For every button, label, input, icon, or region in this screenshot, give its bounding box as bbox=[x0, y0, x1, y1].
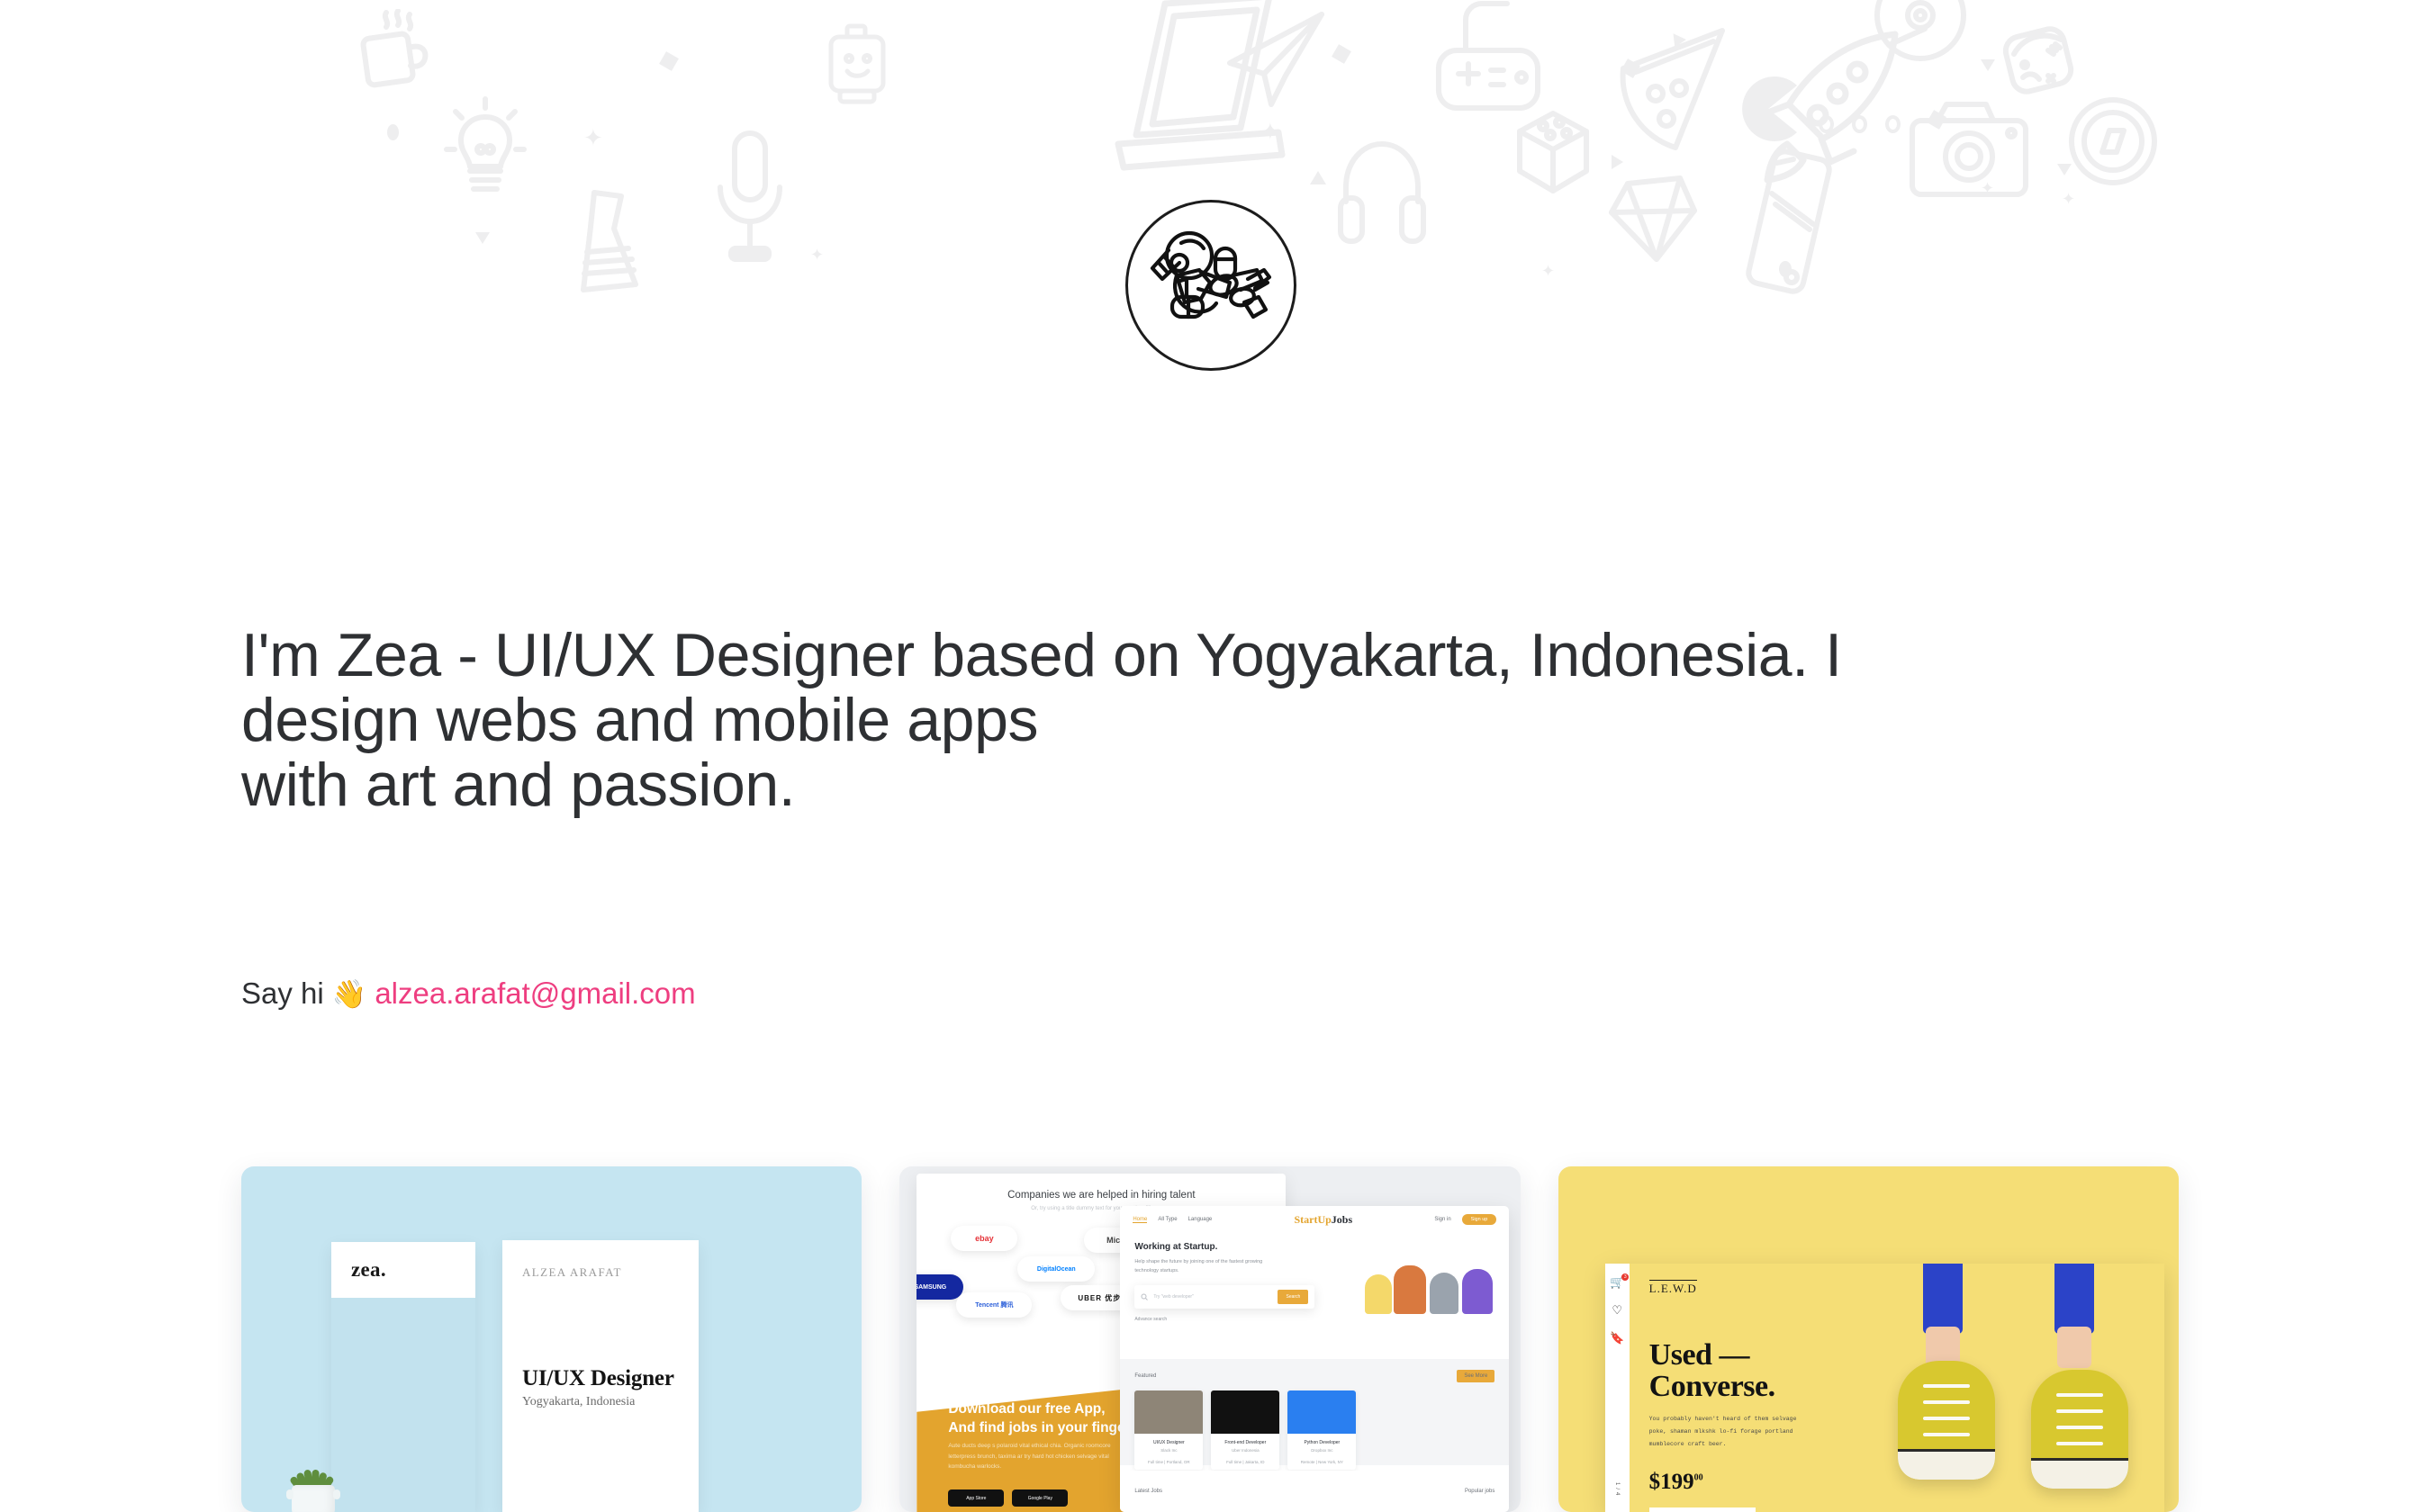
featured-section: Featured See More UI/UX Designer Slack I… bbox=[1120, 1359, 1509, 1465]
job-card[interactable]: Front-end Developer Uber Indonesia Full … bbox=[1211, 1390, 1279, 1470]
hero-section: I'm Zea - UI/UX Designer based on Yogyak… bbox=[241, 623, 2042, 817]
lego-head-icon bbox=[824, 22, 892, 109]
app-store-badge[interactable]: App Store bbox=[948, 1489, 1004, 1507]
lightbulb-icon bbox=[441, 94, 529, 207]
job-company: Slack Inc bbox=[1134, 1448, 1203, 1453]
job-card[interactable]: UI/UX Designer Slack Inc Full time | Por… bbox=[1134, 1390, 1203, 1470]
compass-icon bbox=[2066, 94, 2160, 188]
shop-brand-logo: L.E.W.D bbox=[1649, 1280, 1697, 1296]
star-icon: ✦ bbox=[2062, 191, 2075, 207]
company-pill: ebay bbox=[951, 1226, 1017, 1251]
star-icon: ✦ bbox=[583, 126, 603, 149]
job-thumbnail bbox=[1287, 1390, 1356, 1434]
contact-prefix: Say hi bbox=[241, 976, 324, 1011]
dot-icon bbox=[1885, 115, 1901, 133]
astronaut-logo[interactable] bbox=[1125, 200, 1296, 371]
company-pill: DigitalOcean bbox=[1017, 1256, 1095, 1282]
nav-item-language[interactable]: Language bbox=[1188, 1217, 1213, 1222]
job-thumbnail bbox=[1134, 1390, 1203, 1434]
jobs-brand-logo: StartUpJobs bbox=[1294, 1213, 1352, 1227]
featured-label: Featured bbox=[1134, 1373, 1156, 1379]
burger-icon bbox=[2003, 25, 2077, 97]
job-title: Front-end Developer bbox=[1211, 1440, 1279, 1445]
square-icon bbox=[659, 51, 679, 71]
jobs-hero-body: Help shape the future by joining one of … bbox=[1134, 1257, 1278, 1276]
job-thumbnail bbox=[1211, 1390, 1279, 1434]
brand-logo-word: zea. bbox=[351, 1258, 386, 1282]
jobs-home-screen: Home All Type Language StartUpJobs Sign … bbox=[1120, 1206, 1509, 1512]
jobs-navbar: Home All Type Language StartUpJobs Sign … bbox=[1120, 1206, 1509, 1233]
product-photo bbox=[1885, 1264, 2164, 1512]
job-meta: Remote | New York, NY bbox=[1287, 1460, 1356, 1464]
featured-job-list: UI/UX Designer Slack Inc Full time | Por… bbox=[1134, 1390, 1494, 1470]
job-search-button[interactable]: Search bbox=[1278, 1290, 1308, 1304]
succulent-plant bbox=[284, 1465, 343, 1512]
paper-plane-icon bbox=[1224, 9, 1328, 110]
rocket-icon bbox=[1751, 25, 1909, 192]
pacman-icon bbox=[1736, 76, 1801, 141]
business-card-name: ALZEA ARAFAT bbox=[522, 1265, 679, 1280]
latest-jobs-label: Latest Jobs bbox=[1134, 1489, 1162, 1494]
project-card-branding[interactable]: zea. ALZEA ARAFAT UI/UX Designer Yogyaka… bbox=[241, 1166, 862, 1512]
job-search-bar[interactable]: Try "web developer" Search bbox=[1134, 1285, 1314, 1309]
add-to-cart-button[interactable]: ADD TO CART bbox=[1649, 1507, 1756, 1512]
plant-pot bbox=[292, 1485, 335, 1512]
team-illustration bbox=[1361, 1256, 1496, 1328]
sign-in-link[interactable]: Sign in bbox=[1434, 1217, 1450, 1222]
headline-line-3: with art and passion. bbox=[241, 752, 2042, 817]
nav-item-all-type[interactable]: All Type bbox=[1158, 1217, 1177, 1222]
job-title: Python Developer bbox=[1287, 1440, 1356, 1445]
square-icon bbox=[1621, 58, 1640, 78]
cart-icon[interactable]: 🛒3 bbox=[1610, 1276, 1624, 1288]
store-badges: App Store Google Play bbox=[948, 1489, 1068, 1507]
square-icon bbox=[1927, 110, 1946, 130]
nav-item-home[interactable]: Home bbox=[1133, 1217, 1147, 1223]
square-icon bbox=[1332, 44, 1351, 64]
email-link[interactable]: alzea.arafat@gmail.com bbox=[375, 976, 695, 1011]
job-meta: Full time | Portland, OR bbox=[1134, 1460, 1203, 1464]
flask-icon bbox=[567, 187, 654, 297]
triangle-icon bbox=[1981, 59, 1995, 71]
business-card-location: Yogyakarta, Indonesia bbox=[522, 1395, 679, 1409]
job-company: Uber Indonesia bbox=[1211, 1448, 1279, 1453]
dot-icon bbox=[1819, 115, 1834, 133]
project-card-ecommerce[interactable]: 🛒3 ♡ 🔖 1/4 L.E.W.D Used — Converse. You … bbox=[1558, 1166, 2179, 1512]
shop-product-content: L.E.W.D Used — Converse. You probably ha… bbox=[1630, 1264, 2164, 1512]
triangle-icon bbox=[1612, 155, 1623, 169]
shop-side-rail: 🛒3 ♡ 🔖 1/4 bbox=[1605, 1264, 1630, 1512]
laptop-icon bbox=[1109, 0, 1289, 186]
star-icon: ✦ bbox=[1541, 263, 1555, 279]
astronaut-icon bbox=[1147, 223, 1275, 349]
featured-header: Featured See More bbox=[1134, 1370, 1494, 1382]
headline-line-1: I'm Zea - UI/UX Designer based on Yogyak… bbox=[241, 623, 2042, 688]
waving-hand-icon: 👋 bbox=[332, 980, 367, 1008]
jobs-hero-title: Working at Startup. bbox=[1134, 1242, 1494, 1252]
page-title: I'm Zea - UI/UX Designer based on Yogyak… bbox=[241, 623, 2042, 817]
triangle-icon bbox=[1668, 33, 1686, 50]
shop-browser-window: 🛒3 ♡ 🔖 1/4 L.E.W.D Used — Converse. You … bbox=[1605, 1264, 2164, 1512]
triangle-icon bbox=[475, 232, 490, 244]
brand-poster: zea. bbox=[331, 1242, 475, 1512]
brand-poster-body bbox=[331, 1298, 475, 1512]
headphones-icon bbox=[1337, 135, 1427, 252]
brand-poster-top: zea. bbox=[331, 1242, 475, 1298]
job-company: Dropbox Inc bbox=[1287, 1448, 1356, 1453]
dot-icon bbox=[387, 124, 399, 140]
search-icon bbox=[1141, 1293, 1148, 1300]
star-icon: ✦ bbox=[810, 247, 824, 263]
job-title: UI/UX Designer bbox=[1134, 1440, 1203, 1445]
product-description: You probably haven't heard of them selva… bbox=[1649, 1413, 1810, 1450]
google-play-badge[interactable]: Google Play bbox=[1012, 1489, 1068, 1507]
star-icon: ✦ bbox=[1260, 120, 1280, 143]
company-pill: Tencent 腾讯 bbox=[956, 1292, 1032, 1318]
dot-icon bbox=[1852, 115, 1867, 133]
project-cards: zea. ALZEA ARAFAT UI/UX Designer Yogyaka… bbox=[241, 1166, 2179, 1512]
cd-icon bbox=[1871, 0, 1970, 65]
company-pill: SAMSUNG bbox=[917, 1274, 963, 1300]
companies-title: Companies we are helped in hiring talent bbox=[917, 1190, 1286, 1201]
job-meta: Full time | Jakarta, ID bbox=[1211, 1460, 1279, 1464]
camera-icon bbox=[1907, 97, 2033, 202]
triangle-icon bbox=[2057, 164, 2072, 175]
business-card-role: UI/UX Designer bbox=[522, 1366, 679, 1391]
bookmark-icon[interactable]: 🔖 bbox=[1610, 1332, 1624, 1344]
latest-jobs-bar: Latest Jobs Popular jobs bbox=[1120, 1471, 1509, 1512]
microphone-icon bbox=[711, 126, 789, 279]
star-icon: ✦ bbox=[1981, 180, 1994, 196]
mug-icon bbox=[353, 9, 436, 95]
pizza-icon bbox=[1616, 25, 1733, 153]
cart-badge: 3 bbox=[1621, 1273, 1629, 1281]
heart-icon[interactable]: ♡ bbox=[1612, 1304, 1622, 1316]
sign-up-button[interactable]: Sign up bbox=[1462, 1214, 1497, 1225]
triangle-icon bbox=[1310, 171, 1326, 184]
job-search-input[interactable]: Try "web developer" bbox=[1153, 1294, 1272, 1300]
dot-icon bbox=[1779, 261, 1792, 277]
smartphone-icon bbox=[1745, 148, 1844, 297]
gamepad-icon bbox=[1433, 0, 1550, 133]
job-card[interactable]: Python Developer Dropbox Inc Remote | Ne… bbox=[1287, 1390, 1356, 1470]
see-more-button[interactable]: See More bbox=[1457, 1370, 1494, 1382]
lego-brick-icon bbox=[1512, 106, 1594, 201]
diamond-icon bbox=[1604, 171, 1703, 266]
project-card-startupjobs[interactable]: Companies we are helped in hiring talent… bbox=[899, 1166, 1520, 1512]
contact-line: Say hi 👋 alzea.arafat@gmail.com bbox=[241, 976, 696, 1011]
business-card: ALZEA ARAFAT UI/UX Designer Yogyakarta, … bbox=[502, 1240, 699, 1512]
slide-pager: 1/4 bbox=[1614, 1482, 1620, 1498]
headline-line-2: design webs and mobile apps bbox=[241, 688, 2042, 752]
popular-jobs-dropdown[interactable]: Popular jobs bbox=[1465, 1489, 1494, 1494]
promo-body: Aute ducts deep s polaroid vital ethical… bbox=[948, 1441, 1128, 1472]
